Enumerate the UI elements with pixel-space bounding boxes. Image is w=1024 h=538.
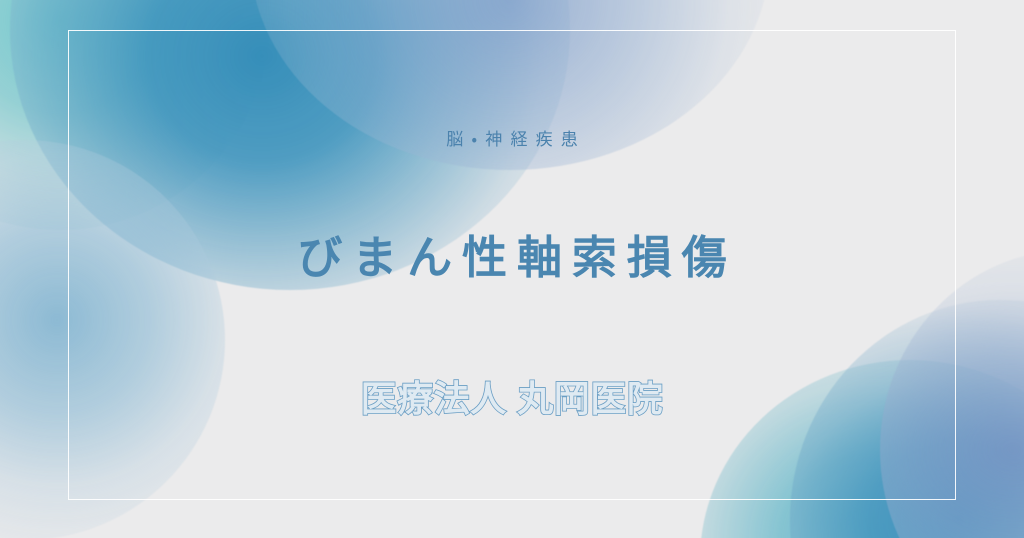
- page-title: びまん性軸索損傷: [287, 230, 736, 286]
- card-content: 脳・神経疾患 びまん性軸索損傷 医療法人 丸岡医院: [0, 0, 1024, 538]
- organization-name: 医療法人 丸岡医院: [361, 376, 664, 423]
- category-eyebrow: 脳・神経疾患: [438, 128, 586, 152]
- title-card: 脳・神経疾患 びまん性軸索損傷 医療法人 丸岡医院: [0, 0, 1024, 538]
